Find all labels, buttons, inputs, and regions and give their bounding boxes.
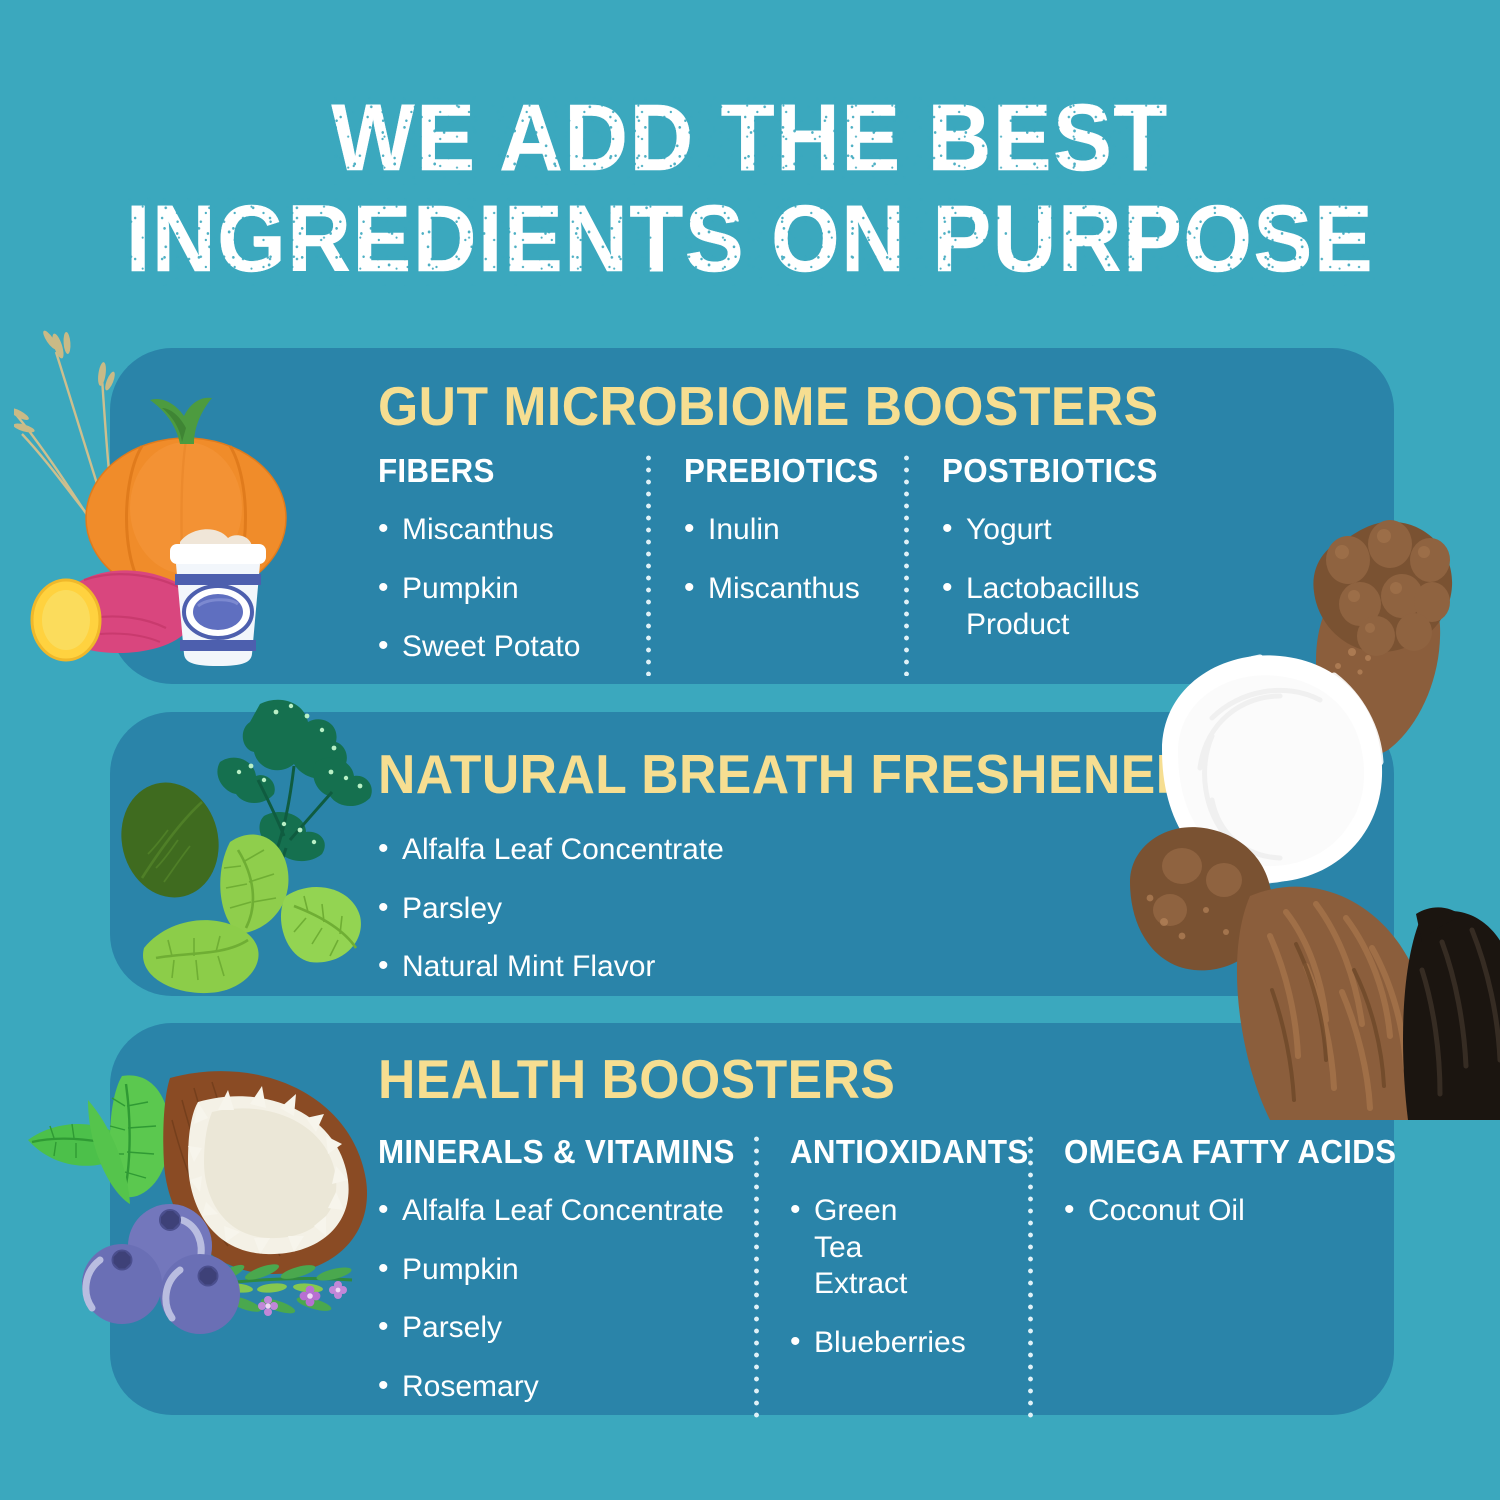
column-head-omega-fatty-acids: OMEGA FATTY ACIDS	[1064, 1133, 1345, 1171]
column-postbiotics: POSTBIOTICS Yogurt Lactobacillus Product	[906, 452, 1206, 688]
column-divider-3	[754, 1133, 759, 1419]
list-item: Natural Mint Flavor	[378, 949, 1360, 986]
list-item: Miscanthus	[378, 512, 648, 549]
list-item: Rosemary	[378, 1369, 756, 1406]
list-item: Parsley	[378, 891, 1360, 928]
card-gut-microbiome-boosters: GUT MICROBIOME BOOSTERS FIBERS Miscanthu…	[110, 348, 1394, 684]
list-item: Miscanthus	[684, 571, 906, 608]
title-line-2: INGREDIENTS ON PURPOSE	[126, 193, 1374, 286]
list-item: Parsely	[378, 1310, 756, 1347]
columns-health: MINERALS & VITAMINS Alfalfa Leaf Concent…	[378, 1133, 1360, 1427]
list-item: Sweet Potato	[378, 629, 648, 666]
card-heading-breath: NATURAL BREATH FRESHENERS	[378, 712, 1301, 806]
card-heading-health: HEALTH BOOSTERS	[378, 1023, 1301, 1111]
list-item: Pumpkin	[378, 571, 648, 608]
column-head-prebiotics: PREBIOTICS	[684, 452, 895, 490]
list-postbiotics: Yogurt Lactobacillus Product	[942, 512, 1206, 644]
list-item: Alfalfa Leaf Concentrate	[378, 832, 1360, 869]
list-breath-fresheners: Alfalfa Leaf Concentrate Parsley Natural…	[378, 832, 1360, 986]
list-item: Blueberries	[790, 1325, 1030, 1362]
card-heading-gut: GUT MICROBIOME BOOSTERS	[378, 348, 1301, 438]
column-head-minerals-vitamins: MINERALS & VITAMINS	[378, 1133, 737, 1171]
page-title: WE ADD THE BEST INGREDIENTS ON PURPOSE	[0, 92, 1500, 286]
card-health-boosters: HEALTH BOOSTERS MINERALS & VITAMINS Alfa…	[110, 1023, 1394, 1415]
column-prebiotics: PREBIOTICS Inulin Miscanthus	[648, 452, 906, 688]
list-item: Alfalfa Leaf Concentrate	[378, 1193, 756, 1230]
list-item: Pumpkin	[378, 1252, 756, 1289]
column-minerals-vitamins: MINERALS & VITAMINS Alfalfa Leaf Concent…	[378, 1133, 756, 1427]
column-head-antioxidants: ANTIOXIDANTS	[790, 1133, 1018, 1171]
column-omega-fatty-acids: OMEGA FATTY ACIDS Coconut Oil	[1030, 1133, 1360, 1427]
list-omega-fatty-acids: Coconut Oil	[1064, 1193, 1360, 1230]
list-item: Coconut Oil	[1064, 1193, 1360, 1230]
card-natural-breath-fresheners: NATURAL BREATH FRESHENERS Alfalfa Leaf C…	[110, 712, 1394, 996]
column-divider-4	[1028, 1133, 1033, 1419]
title-line-1: WE ADD THE BEST	[331, 92, 1168, 185]
list-item: Inulin	[684, 512, 906, 549]
list-prebiotics: Inulin Miscanthus	[684, 512, 906, 607]
column-divider-2	[904, 452, 909, 676]
list-item: Lactobacillus Product	[942, 571, 1157, 644]
list-fibers: Miscanthus Pumpkin Sweet Potato	[378, 512, 648, 666]
list-item: Yogurt	[942, 512, 1206, 549]
list-antioxidants: Green Tea Extract Blueberries	[790, 1193, 1030, 1361]
column-head-fibers: FIBERS	[378, 452, 635, 490]
list-item: Green Tea Extract	[790, 1193, 940, 1303]
column-head-postbiotics: POSTBIOTICS	[942, 452, 1193, 490]
list-minerals-vitamins: Alfalfa Leaf Concentrate Pumpkin Parsely…	[378, 1193, 756, 1405]
column-divider-1	[646, 452, 651, 676]
column-fibers: FIBERS Miscanthus Pumpkin Sweet Potato	[378, 452, 648, 688]
columns-gut: FIBERS Miscanthus Pumpkin Sweet Potato P…	[378, 452, 1360, 688]
column-antioxidants: ANTIOXIDANTS Green Tea Extract Blueberri…	[756, 1133, 1030, 1427]
